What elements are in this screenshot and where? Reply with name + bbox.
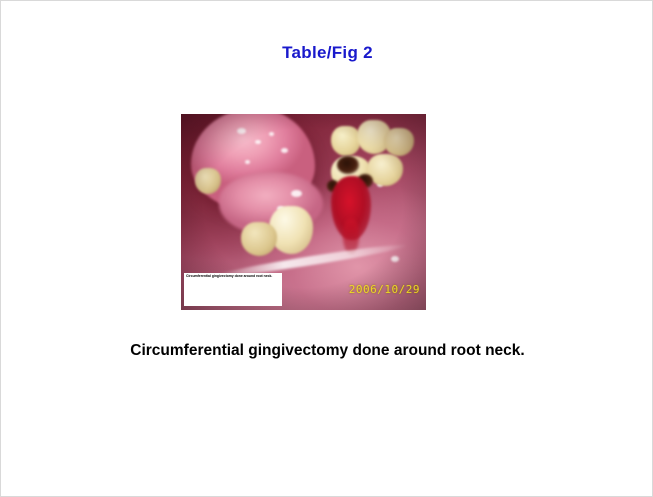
photo-overlay-note-text: Circumferential gingivectomy done around… — [186, 274, 280, 278]
photo-overlay-note: Circumferential gingivectomy done around… — [184, 273, 282, 306]
clinical-photo: Circumferential gingivectomy done around… — [181, 114, 426, 310]
page-title: Table/Fig 2 — [1, 43, 653, 63]
figure-caption: Circumferential gingivectomy done around… — [1, 342, 653, 360]
photo-timestamp: 2006/10/29 — [349, 283, 420, 296]
slide-canvas: Table/Fig 2 Circumferential gingivectomy — [0, 0, 653, 497]
